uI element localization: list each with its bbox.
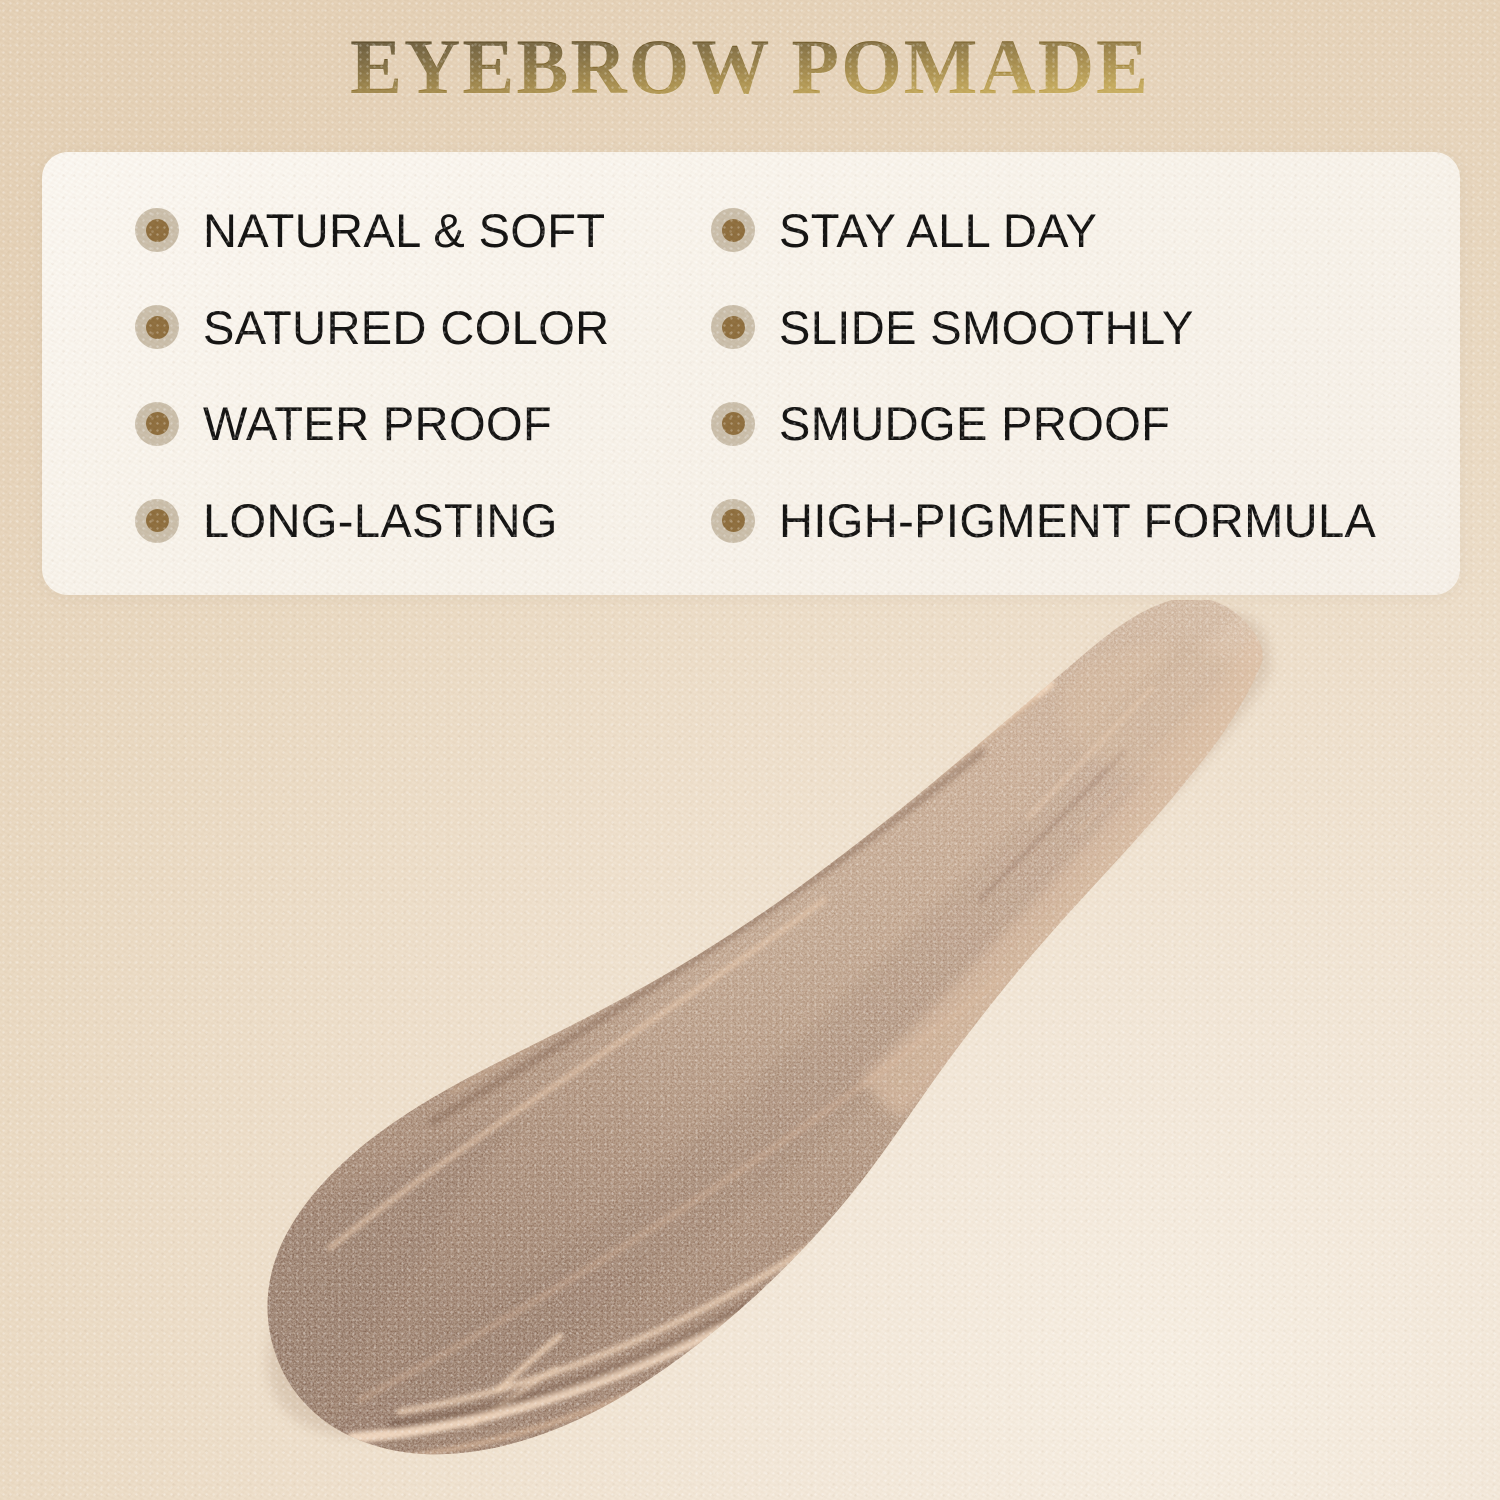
bullet-icon [711,402,755,446]
feature-item-satured-color: SATURED COLOR [42,279,682,376]
feature-label: LONG-LASTING [203,497,558,544]
feature-label: SATURED COLOR [203,304,610,351]
feature-label: STAY ALL DAY [779,207,1097,254]
product-swatch-image [0,600,1500,1500]
feature-item-water-proof: WATER PROOF [42,376,682,473]
bullet-icon [711,208,755,252]
bullet-icon [135,208,179,252]
feature-item-stay-all-day: STAY ALL DAY [682,182,1460,279]
feature-label: WATER PROOF [203,400,552,447]
feature-list-card: NATURAL & SOFT STAY ALL DAY SATURED COLO… [42,152,1460,595]
bullet-icon [711,499,755,543]
bullet-icon [135,499,179,543]
feature-item-smudge-proof: SMUDGE PROOF [682,376,1460,473]
bullet-icon [135,402,179,446]
feature-item-slide-smoothly: SLIDE SMOOTHLY [682,279,1460,376]
feature-item-high-pigment-formula: HIGH-PIGMENT FORMULA [682,472,1460,569]
feature-label: SMUDGE PROOF [779,400,1170,447]
feature-item-natural-soft: NATURAL & SOFT [42,182,682,279]
bullet-icon [711,305,755,349]
bullet-icon [135,305,179,349]
page-title: EYEBROW POMADE [0,28,1500,106]
feature-label: NATURAL & SOFT [203,207,606,254]
feature-item-long-lasting: LONG-LASTING [42,472,682,569]
feature-label: SLIDE SMOOTHLY [779,304,1194,351]
feature-label: HIGH-PIGMENT FORMULA [779,497,1376,544]
swatch-body [0,600,1500,1500]
feature-grid: NATURAL & SOFT STAY ALL DAY SATURED COLO… [42,152,1460,595]
pomade-swatch-graphic [0,600,1500,1500]
product-marketing-image: EYEBROW POMADE NATURAL & SOFT STAY ALL D… [0,0,1500,1500]
